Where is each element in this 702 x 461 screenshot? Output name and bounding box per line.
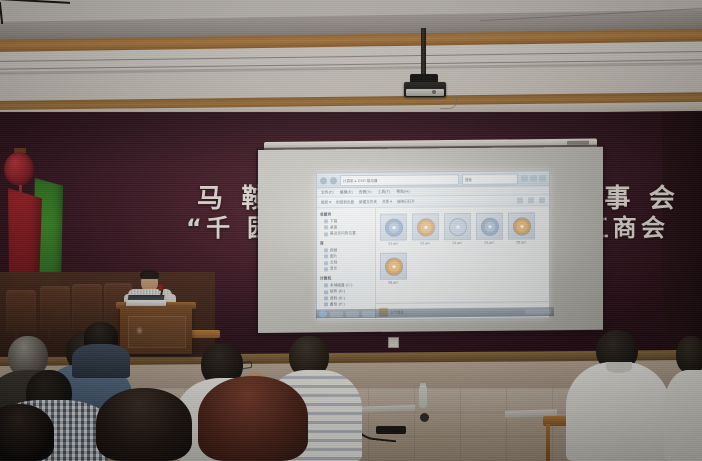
photo-scene: 马 鞍 “千 园 理 事 会 庐江商会 计算机 ▸ DVD 驱动器 搜索 — [0, 0, 702, 461]
stage-chair-back — [190, 330, 220, 338]
wall-outlet-plate — [388, 337, 399, 348]
shirt-collar — [606, 362, 632, 373]
water-bottle — [419, 386, 427, 408]
audience-person-body — [664, 370, 702, 461]
projector-lens-face — [406, 89, 444, 96]
podium-highlight — [136, 326, 143, 335]
projector-lens — [432, 90, 436, 94]
audience-person-head — [198, 376, 308, 461]
audience-person-body — [566, 362, 670, 461]
housing-label — [567, 141, 589, 145]
projection-screen: 计算机 ▸ DVD 驱动器 搜索 文件(F) 编辑(E) 查看(V) 工具(T)… — [258, 147, 603, 333]
audience-person-head — [96, 388, 192, 461]
red-lantern — [4, 152, 34, 186]
floor-drain — [420, 413, 429, 422]
projector-mount-pole — [421, 28, 426, 76]
audience-person-head — [676, 336, 702, 374]
chair-leg — [546, 424, 550, 461]
stage-seat — [40, 286, 70, 330]
screen-sheen — [258, 147, 603, 333]
microphone-head — [158, 284, 163, 291]
audience-person-body — [72, 344, 130, 378]
stage-seat — [6, 290, 36, 332]
floor-cable-box — [376, 426, 406, 434]
audience-person-head — [0, 404, 54, 461]
